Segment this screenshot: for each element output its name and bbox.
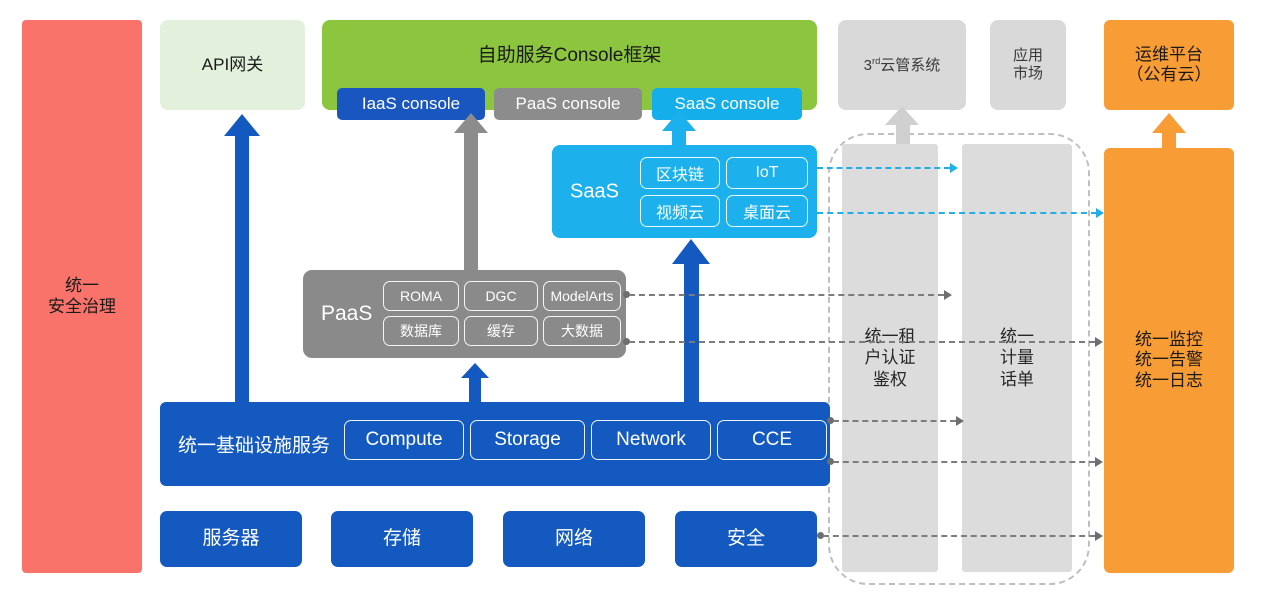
security-governance-line2: 安全治理 [48, 297, 116, 317]
arrow-services-to-third-party-shaft [896, 122, 910, 144]
paas-pill-roma-label: ROMA [400, 288, 442, 304]
arrow-services-to-third-party-head [885, 106, 919, 125]
iaas-unified-infrastructure-bar: 统一基础设施服务 Compute Storage Network CCE [160, 402, 830, 486]
paas-label: PaaS [321, 302, 372, 326]
iaas-pill-cce-label: CCE [752, 429, 792, 451]
app-market-box[interactable]: 应用 市场 [990, 20, 1066, 110]
arrow-monitoring-to-ops-shaft [1162, 130, 1176, 150]
saas-pill-blockchain-label: 区块链 [656, 161, 704, 185]
iaas-pill-cce[interactable]: CCE [717, 420, 827, 460]
dashed-saas-to-auth-arrowhead [950, 163, 958, 173]
unified-tenant-auth-line2: 户认证 [865, 347, 916, 368]
iaas-pill-storage-label: Storage [494, 429, 561, 451]
iaas-pill-network-label: Network [616, 429, 686, 451]
arrow-iaas-to-saas-shaft [684, 263, 699, 403]
saas-pill-video-cloud-label: 视频云 [656, 199, 704, 223]
security-governance-line1: 统一 [65, 276, 99, 296]
iaas-console-label: IaaS console [362, 94, 460, 114]
paas-pill-bigdata-label: 大数据 [561, 321, 603, 341]
paas-console-label: PaaS console [516, 94, 621, 114]
dashed-paas-to-ops-arrowhead [1095, 337, 1103, 347]
iaas-pill-compute-label: Compute [365, 429, 442, 451]
third-party-prefix: 3 [864, 57, 872, 74]
console-framework-panel: 自助服务Console框架 IaaS console PaaS console … [322, 20, 817, 110]
paas-pill-database-label: 数据库 [400, 321, 442, 341]
infra-chip-security[interactable]: 安全 [675, 511, 817, 567]
paas-pill-modelarts-label: ModelArts [550, 288, 613, 304]
infra-chip-storage-label: 存储 [383, 528, 421, 550]
iaas-pill-network[interactable]: Network [591, 420, 711, 460]
unified-tenant-auth-line3: 鉴权 [865, 369, 916, 390]
arrow-iaas-to-paas-shaft [469, 376, 481, 403]
app-market-line2: 市场 [1013, 65, 1043, 83]
monitoring-line2: 统一告警 [1135, 350, 1203, 370]
dashed-saas-to-ops-line [817, 212, 1097, 214]
api-gateway-box[interactable]: API网关 [160, 20, 305, 110]
monitoring-line1: 统一监控 [1135, 330, 1203, 350]
dashed-saas-to-auth-line [817, 167, 950, 169]
paas-pill-database[interactable]: 数据库 [383, 316, 459, 346]
third-party-cloud-mgmt-label: 3rd云管系统 [864, 56, 941, 75]
unified-metering-line1: 统一 [1000, 326, 1034, 347]
paas-pill-dgc-label: DGC [485, 288, 516, 304]
unified-tenant-auth-bar[interactable]: 统一租 户认证 鉴权 [842, 144, 938, 572]
dashed-iaas-to-auth-line [833, 420, 956, 422]
arrow-monitoring-to-ops-head [1152, 113, 1186, 133]
unified-metering-line3: 话单 [1000, 369, 1034, 390]
infra-chip-network[interactable]: 网络 [503, 511, 645, 567]
dashed-iaas-to-ops-arrowhead [1095, 457, 1103, 467]
monitoring-panel: 统一监控 统一告警 统一日志 [1104, 148, 1234, 573]
infra-chip-network-label: 网络 [555, 528, 593, 550]
iaas-label: 统一基础设施服务 [178, 431, 330, 458]
paas-console-chip[interactable]: PaaS console [494, 88, 642, 120]
iaas-pill-compute[interactable]: Compute [344, 420, 464, 460]
arrow-iaas-to-paas-head [461, 363, 489, 378]
arrow-iaas-to-saas-head [672, 239, 710, 264]
security-governance-panel: 统一 安全治理 [22, 20, 142, 573]
paas-pill-dgc[interactable]: DGC [464, 281, 538, 311]
dashed-infra-to-ops-arrowhead [1095, 531, 1103, 541]
architecture-diagram: 统一 安全治理 API网关 自助服务Console框架 IaaS console… [0, 0, 1265, 605]
arrow-iaas-to-api-gateway-head [224, 114, 260, 136]
infra-chip-security-label: 安全 [727, 528, 765, 550]
console-framework-title: 自助服务Console框架 [322, 40, 817, 67]
third-party-cloud-mgmt-box[interactable]: 3rd云管系统 [838, 20, 966, 110]
arrow-paas-to-console-shaft [464, 130, 478, 270]
unified-tenant-auth-line1: 统一租 [865, 326, 916, 347]
paas-pill-modelarts[interactable]: ModelArts [543, 281, 621, 311]
saas-pill-video-cloud[interactable]: 视频云 [640, 195, 720, 227]
ops-platform-line1: 运维平台 [1135, 45, 1203, 65]
saas-box: SaaS 区块链 IoT 视频云 桌面云 [552, 145, 817, 238]
paas-box: PaaS ROMA DGC ModelArts 数据库 缓存 大数据 [303, 270, 626, 358]
infra-chip-storage[interactable]: 存储 [331, 511, 473, 567]
unified-metering-line2: 计量 [1000, 347, 1034, 368]
saas-label: SaaS [570, 180, 619, 203]
paas-pill-bigdata[interactable]: 大数据 [543, 316, 621, 346]
saas-pill-iot[interactable]: IoT [726, 157, 808, 189]
arrow-saas-to-console-shaft [672, 128, 686, 148]
dashed-iaas-to-auth-arrowhead [956, 416, 964, 426]
arrow-saas-to-console-head [662, 111, 696, 131]
paas-pill-roma[interactable]: ROMA [383, 281, 459, 311]
api-gateway-label: API网关 [202, 55, 263, 75]
dashed-paas-to-auth-line [629, 294, 944, 296]
unified-metering-billing-bar[interactable]: 统一 计量 话单 [962, 144, 1072, 572]
dashed-saas-to-ops-arrowhead [1096, 208, 1104, 218]
infra-chip-server-label: 服务器 [202, 528, 259, 550]
dashed-iaas-to-ops-line [833, 461, 1095, 463]
app-market-line1: 应用 [1013, 47, 1043, 65]
monitoring-line3: 统一日志 [1135, 371, 1203, 391]
saas-pill-iot-label: IoT [755, 164, 778, 182]
saas-pill-desktop-cloud-label: 桌面云 [743, 199, 791, 223]
arrow-iaas-to-api-gateway-shaft [235, 132, 249, 402]
arrow-paas-to-console-head [454, 113, 488, 133]
ops-platform-box[interactable]: 运维平台 （公有云） [1104, 20, 1234, 110]
third-party-suffix: 云管系统 [880, 57, 940, 74]
dashed-infra-to-ops-line [823, 535, 1095, 537]
saas-pill-blockchain[interactable]: 区块链 [640, 157, 720, 189]
dashed-paas-to-auth-arrowhead [944, 290, 952, 300]
iaas-pill-storage[interactable]: Storage [470, 420, 585, 460]
dashed-paas-to-ops-line [629, 341, 1095, 343]
ops-platform-line2: （公有云） [1127, 65, 1212, 85]
paas-pill-cache[interactable]: 缓存 [464, 316, 538, 346]
saas-pill-desktop-cloud[interactable]: 桌面云 [726, 195, 808, 227]
infra-chip-server[interactable]: 服务器 [160, 511, 302, 567]
paas-pill-cache-label: 缓存 [487, 321, 515, 341]
